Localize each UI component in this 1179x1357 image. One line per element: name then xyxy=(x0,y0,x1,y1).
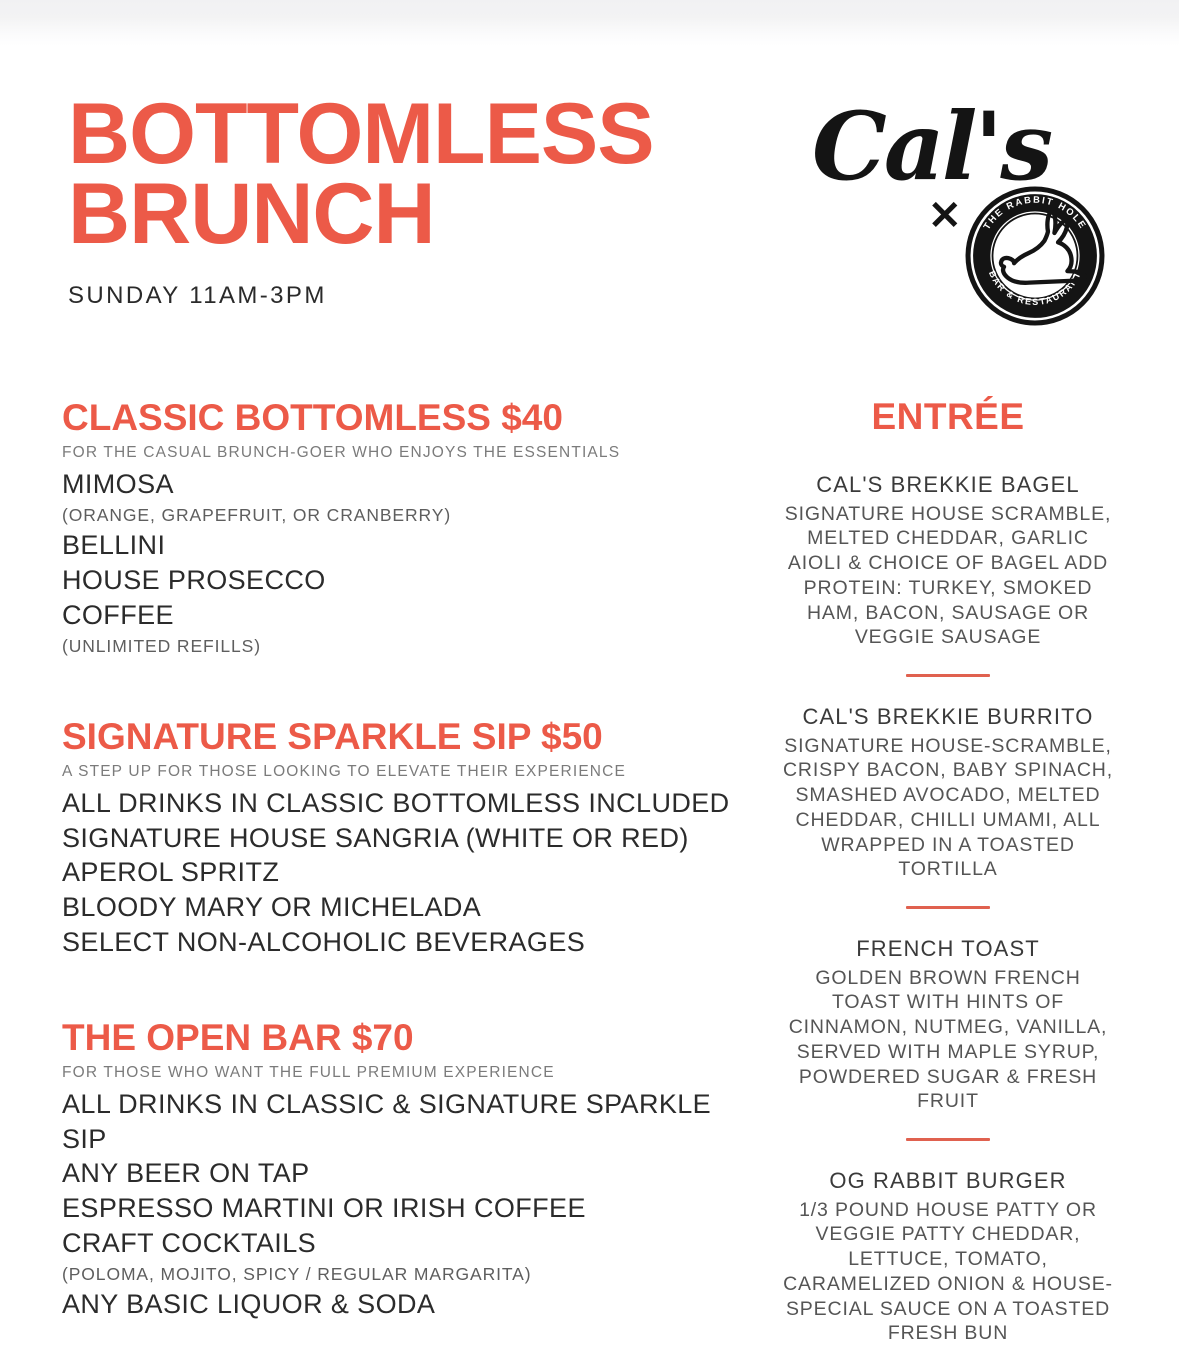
dish-name: OG RABBIT BURGER xyxy=(778,1167,1118,1195)
package-item: ESPRESSO MARTINI OR IRISH COFFEE xyxy=(62,1191,762,1226)
dish-name: CAL'S BREKKIE BAGEL xyxy=(778,471,1118,499)
package-classic-bottomless: CLASSIC BOTTOMLESS $40 FOR THE CASUAL BR… xyxy=(62,398,762,659)
brunch-menu-page: BOTTOMLESS BRUNCH SUNDAY 11AM-3PM Cal's … xyxy=(0,0,1179,1357)
entree-item-brekkie-burrito: CAL'S BREKKIE BURRITO SIGNATURE HOUSE-SC… xyxy=(778,703,1118,882)
package-item: ALL DRINKS IN CLASSIC BOTTOMLESS INCLUDE… xyxy=(62,786,762,821)
entree-item-french-toast: FRENCH TOAST GOLDEN BROWN FRENCH TOAST W… xyxy=(778,935,1118,1114)
page-title: BOTTOMLESS BRUNCH xyxy=(68,95,768,255)
dish-description: SIGNATURE HOUSE SCRAMBLE, MELTED CHEDDAR… xyxy=(778,502,1118,651)
package-signature-sparkle-sip: SIGNATURE SPARKLE SIP $50 A STEP UP FOR … xyxy=(62,717,762,960)
schedule-text: SUNDAY 11AM-3PM xyxy=(68,282,768,310)
package-title: CLASSIC BOTTOMLESS $40 xyxy=(62,398,762,438)
package-item: ANY BASIC LIQUOR & SODA xyxy=(62,1287,762,1322)
package-item: SELECT NON-ALCOHOLIC BEVERAGES xyxy=(62,925,762,960)
dish-description: GOLDEN BROWN FRENCH TOAST WITH HINTS OF … xyxy=(778,966,1118,1115)
package-tagline: A STEP UP FOR THOSE LOOKING TO ELEVATE T… xyxy=(62,763,762,781)
dish-description: SIGNATURE HOUSE-SCRAMBLE, CRISPY BACON, … xyxy=(778,734,1118,883)
collab-cross-icon: ✕ xyxy=(928,193,962,239)
entree-column: ENTRÉE CAL'S BREKKIE BAGEL SIGNATURE HOU… xyxy=(778,398,1118,1346)
dish-divider xyxy=(906,1138,990,1141)
package-title: THE OPEN BAR $70 xyxy=(62,1018,762,1058)
package-item: MIMOSA xyxy=(62,467,762,502)
entree-item-brekkie-bagel: CAL'S BREKKIE BAGEL SIGNATURE HOUSE SCRA… xyxy=(778,471,1118,650)
package-item: COFFEE xyxy=(62,598,762,633)
package-item: ALL DRINKS IN CLASSIC & SIGNATURE SPARKL… xyxy=(62,1087,762,1157)
dish-name: FRENCH TOAST xyxy=(778,935,1118,963)
menu-header: BOTTOMLESS BRUNCH SUNDAY 11AM-3PM Cal's … xyxy=(0,95,1179,365)
package-item: ANY BEER ON TAP xyxy=(62,1156,762,1191)
package-note: (ORANGE, GRAPEFRUIT, OR CRANBERRY) xyxy=(62,502,762,528)
dish-divider xyxy=(906,906,990,909)
rabbit-hole-badge-icon: THE RABBIT HOLE BAR & RESTAURANT xyxy=(963,184,1107,328)
package-note: (UNLIMITED REFILLS) xyxy=(62,633,762,659)
package-tagline: FOR THOSE WHO WANT THE FULL PREMIUM EXPE… xyxy=(62,1064,762,1082)
dish-description: 1/3 POUND HOUSE PATTY OR VEGGIE PATTY CH… xyxy=(778,1198,1118,1347)
logo-lockup: Cal's ✕ THE RABBIT HOLE BAR & RESTAURANT xyxy=(808,100,1118,320)
package-note: (POLOMA, MOJITO, SPICY / REGULAR MARGARI… xyxy=(62,1261,762,1287)
page-title-line-1: BOTTOMLESS xyxy=(68,95,768,175)
entree-item-og-rabbit-burger: OG RABBIT BURGER 1/3 POUND HOUSE PATTY O… xyxy=(778,1167,1118,1346)
package-item: APEROL SPRITZ xyxy=(62,855,762,890)
package-item: SIGNATURE HOUSE SANGRIA (WHITE OR RED) xyxy=(62,821,762,856)
top-edge-band xyxy=(0,0,1179,46)
package-item: BELLINI xyxy=(62,528,762,563)
drink-packages-column: CLASSIC BOTTOMLESS $40 FOR THE CASUAL BR… xyxy=(62,398,762,1322)
cals-wordmark: Cal's xyxy=(812,100,1050,194)
title-block: BOTTOMLESS BRUNCH SUNDAY 11AM-3PM xyxy=(68,95,768,310)
page-title-line-2: BRUNCH xyxy=(68,175,768,255)
package-item: BLOODY MARY OR MICHELADA xyxy=(62,890,762,925)
dish-divider xyxy=(906,674,990,677)
package-open-bar: THE OPEN BAR $70 FOR THOSE WHO WANT THE … xyxy=(62,1018,762,1322)
package-item: HOUSE PROSECCO xyxy=(62,563,762,598)
package-item: CRAFT COCKTAILS xyxy=(62,1226,762,1261)
dish-name: CAL'S BREKKIE BURRITO xyxy=(778,703,1118,731)
entree-heading: ENTRÉE xyxy=(778,398,1118,435)
package-title: SIGNATURE SPARKLE SIP $50 xyxy=(62,717,762,757)
package-tagline: FOR THE CASUAL BRUNCH-GOER WHO ENJOYS TH… xyxy=(62,444,762,462)
